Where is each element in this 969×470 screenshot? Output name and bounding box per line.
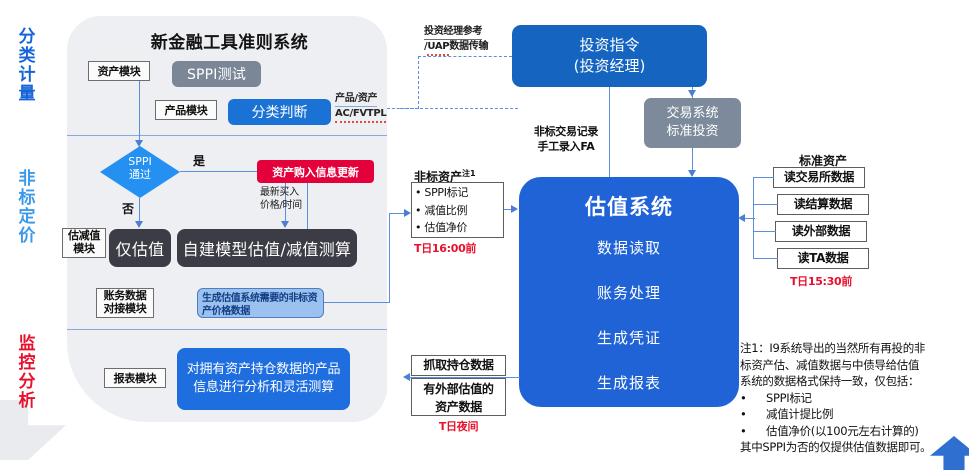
footnote-line2: 标资产估、减值数据与中债导给估值 bbox=[740, 357, 968, 374]
external-valuation-asset-box: 有外部估值的 资产数据 bbox=[411, 378, 506, 416]
footnote-bullet-2: •减值计提比例 bbox=[740, 406, 968, 423]
sppi-decision-diamond[interactable]: SPPI 通过 bbox=[100, 146, 180, 198]
valuation-item-accounting: 账务处理 bbox=[519, 282, 739, 303]
page-title: 新金融工具准则系统 bbox=[82, 28, 377, 53]
self-built-model-node[interactable]: 自建模型估值/减值测算 bbox=[177, 229, 357, 267]
connector-asset-to-decision bbox=[139, 81, 140, 143]
module-tag-product: 产品模块 bbox=[155, 100, 217, 120]
trading-system-node[interactable]: 交易系统 标准投资 bbox=[644, 98, 741, 148]
latest-buy-price-annotation: 最新买入价格/时间 bbox=[260, 186, 302, 212]
module-tag-impairment-line1: 估减值 bbox=[68, 229, 100, 242]
standard-row-ta: 读TA数据 bbox=[777, 248, 869, 269]
deadline-night: T日夜间 bbox=[411, 418, 506, 434]
module-tag-asset: 资产模块 bbox=[88, 61, 150, 81]
report-analysis-node[interactable]: 对拥有资产持仓数据的产品信息进行分析和灵活测算 bbox=[177, 348, 350, 410]
im-reference-line1: 投资经理参考 bbox=[424, 25, 482, 40]
dashed-connector-top bbox=[418, 56, 512, 57]
trading-system-text: 交易系统 标准投资 bbox=[666, 105, 718, 141]
connector-panel-right-vertical bbox=[389, 213, 390, 303]
investment-order-node[interactable]: 投资指令 (投资经理) bbox=[512, 25, 707, 87]
valuation-system-title: 估值系统 bbox=[519, 191, 739, 221]
arrowhead-trade-to-valuation bbox=[688, 170, 696, 177]
rail-label-nonstandard-pricing: 非标定价 bbox=[10, 170, 44, 246]
valuation-item-data-read: 数据读取 bbox=[519, 237, 739, 258]
classification-judgement-node[interactable]: 分类判断 bbox=[228, 99, 331, 125]
investment-order-text: 投资指令 (投资经理) bbox=[574, 35, 646, 77]
connector-grab-horizontal bbox=[409, 377, 509, 378]
module-tag-accounting-line1: 账务数据 bbox=[104, 289, 147, 302]
generated-price-data-callout: 生成估值系统需要的非标资产价格数据 bbox=[197, 288, 324, 318]
valuation-item-voucher: 生成凭证 bbox=[519, 327, 739, 348]
sppi-test-node[interactable]: SPPI测试 bbox=[172, 61, 261, 87]
rail-char: 监 bbox=[10, 335, 44, 354]
valuation-system-node[interactable]: 估值系统 数据读取 账务处理 生成凭证 生成报表 bbox=[519, 177, 739, 407]
rail-char: 监控分析 bbox=[10, 335, 44, 411]
rail-char: 计 bbox=[10, 66, 44, 85]
panel-divider-1 bbox=[67, 135, 387, 136]
footnote-line4: 其中SPPI为否的仅提供估值数据即可。 bbox=[740, 439, 968, 456]
rail-char: 定 bbox=[10, 208, 44, 227]
trading-system-line1: 交易系统 bbox=[666, 106, 718, 121]
product-asset-line1: 产品/资产 bbox=[335, 92, 377, 107]
investment-order-line2: (投资经理) bbox=[574, 57, 646, 75]
deadline-1600: T日16:00前 bbox=[414, 240, 506, 256]
product-asset-line2: AC/FVTPL bbox=[335, 107, 386, 123]
rail-char: 非标定价 bbox=[10, 170, 44, 246]
external-valuation-line2: 资产数据 bbox=[435, 400, 482, 414]
investment-order-line1: 投资指令 bbox=[579, 36, 639, 54]
external-valuation-line1: 有外部估值的 bbox=[423, 382, 493, 396]
connector-red-to-model bbox=[307, 183, 308, 229]
connector-no-vertical bbox=[139, 198, 140, 223]
dashed-connector-vertical bbox=[418, 56, 419, 109]
im-reference-line2: /UAP数据传输 bbox=[424, 41, 488, 52]
nonstandard-asset-footnote-ref: 注1 bbox=[462, 169, 476, 178]
diamond-label: SPPI 通过 bbox=[100, 155, 180, 181]
connector-callout-to-right bbox=[324, 302, 390, 303]
arrowhead-yes bbox=[281, 221, 289, 228]
im-reference-annotation: 投资经理参考 /UAP数据传输 bbox=[424, 25, 516, 56]
connector-standard-row2 bbox=[753, 231, 776, 232]
only-valuation-node[interactable]: 仅估值 bbox=[109, 229, 171, 267]
connector-standard-row0 bbox=[753, 177, 774, 178]
arrowhead-to-nonstd bbox=[404, 209, 411, 217]
module-tag-accounting-line2: 对接模块 bbox=[104, 302, 147, 315]
rail-char: 非 bbox=[10, 170, 44, 189]
module-tag-accounting: 账务数据 对接模块 bbox=[96, 288, 154, 318]
footnote-line3: 系统的数据格式保持一致，仅包括： bbox=[740, 373, 968, 390]
rail-char: 标 bbox=[10, 189, 44, 208]
connector-standard-row3 bbox=[753, 258, 778, 259]
standard-row-exchange: 读交易所数据 bbox=[773, 167, 865, 188]
rail-char: 分 bbox=[10, 373, 44, 392]
uap-token: UAP bbox=[427, 40, 449, 56]
footnote-bullet-3: •估值净价(以100元左右计算的) bbox=[740, 423, 968, 440]
rail-label-monitoring-analysis: 监控分析 bbox=[10, 335, 44, 411]
manual-fa-annotation: 非标交易记录 手工录入FA bbox=[518, 124, 614, 154]
grab-position-data-box: 抓取持仓数据 bbox=[411, 355, 506, 376]
standard-row-settlement: 读结算数据 bbox=[777, 194, 869, 215]
panel-divider-2 bbox=[67, 329, 387, 330]
manual-fa-line2: 手工录入FA bbox=[538, 140, 595, 153]
manual-fa-line1: 非标交易记录 bbox=[534, 125, 598, 138]
valuation-item-report: 生成报表 bbox=[519, 372, 739, 393]
module-tag-report: 报表模块 bbox=[104, 368, 166, 388]
rail-char: 分 bbox=[10, 28, 44, 47]
arrowhead-no bbox=[135, 221, 143, 228]
rail-char: 类 bbox=[10, 47, 44, 66]
rail-char: 分类计量 bbox=[10, 28, 44, 104]
standard-row-external: 读外部数据 bbox=[775, 221, 867, 242]
diamond-label-line2: 通过 bbox=[129, 168, 151, 181]
rail-char: 量 bbox=[10, 85, 44, 104]
asset-purchase-update-node[interactable]: 资产购入信息更新 bbox=[257, 160, 374, 183]
footnote-block: 注1：I9系统导出的当然所有再投的非 标资产估、减值数据与中债导给估值 系统的数… bbox=[740, 340, 968, 456]
rail-char: 价 bbox=[10, 227, 44, 246]
module-tag-impairment-line2: 模块 bbox=[73, 242, 94, 255]
list-item: • 估值净价 bbox=[415, 219, 500, 237]
list-item: • SPPI标记 bbox=[415, 184, 500, 202]
list-item: • 减值比例 bbox=[415, 202, 500, 220]
arrowhead-nonstd-to-valuation bbox=[511, 205, 518, 213]
dashed-connector-classify bbox=[400, 108, 518, 109]
flow-label-no: 否 bbox=[122, 200, 134, 217]
arrowhead-to-trade bbox=[688, 90, 696, 97]
rail-char: 析 bbox=[10, 392, 44, 411]
footnote-bullet-1: •SPPI标记 bbox=[740, 390, 968, 407]
arrowhead-standard-left bbox=[738, 214, 745, 222]
footnote-line1: 注1：I9系统导出的当然所有再投的非 bbox=[740, 340, 968, 357]
rail-label-classification-measurement: 分类计量 bbox=[10, 28, 44, 104]
module-tag-impairment: 估减值 模块 bbox=[62, 228, 106, 258]
rail-char: 控 bbox=[10, 354, 44, 373]
flow-label-yes: 是 bbox=[193, 152, 205, 169]
diagram-canvas: 分类计量 非标定价 监控分析 新金融工具准则系统 资产模块 SPPI测试 产品模… bbox=[0, 0, 969, 457]
diamond-label-line1: SPPI bbox=[128, 155, 152, 168]
nonstandard-asset-list: • SPPI标记 • 减值比例 • 估值净价 bbox=[411, 182, 504, 238]
trading-system-line2: 标准投资 bbox=[666, 124, 718, 139]
connector-standard-row1 bbox=[753, 204, 778, 205]
connector-standard-to-valuation bbox=[745, 218, 755, 219]
deadline-1530: T日15:30前 bbox=[773, 273, 869, 289]
